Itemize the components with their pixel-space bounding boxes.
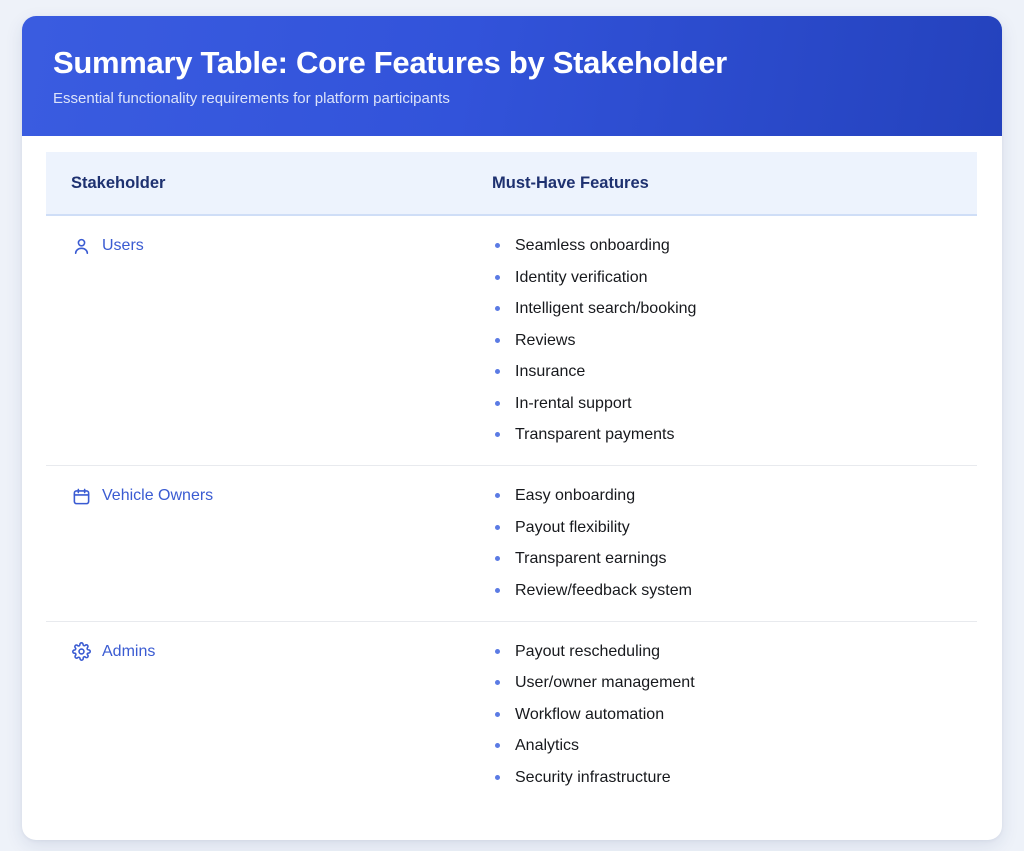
column-header-stakeholder: Stakeholder — [46, 152, 467, 215]
table-header-row: Stakeholder Must-Have Features — [46, 152, 977, 215]
summary-table-card: Summary Table: Core Features by Stakehol… — [22, 16, 1002, 840]
bullet-icon — [495, 743, 500, 748]
gear-icon — [71, 642, 91, 662]
stakeholder-label: Vehicle Owners — [102, 486, 213, 506]
list-item: Workflow automation — [492, 705, 977, 725]
bullet-icon — [495, 649, 500, 654]
table-header: Stakeholder Must-Have Features — [46, 152, 977, 215]
card-header: Summary Table: Core Features by Stakehol… — [22, 16, 1002, 136]
stakeholder-label: Users — [102, 236, 144, 256]
feature-list: Seamless onboarding Identity verificatio… — [492, 236, 977, 445]
bullet-icon — [495, 556, 500, 561]
features-cell-admins: Payout rescheduling User/owner managemen… — [467, 621, 977, 808]
page-subtitle: Essential functionality requirements for… — [53, 89, 972, 109]
bullet-icon — [495, 775, 500, 780]
user-icon — [71, 236, 91, 256]
bullet-icon — [495, 306, 500, 311]
feature-text: Transparent payments — [515, 426, 674, 443]
list-item: Easy onboarding — [492, 486, 977, 506]
stakeholder-cell-users: Users — [46, 215, 467, 466]
bullet-icon — [495, 243, 500, 248]
feature-text: Analytics — [515, 737, 579, 754]
list-item: Intelligent search/booking — [492, 299, 977, 319]
feature-text: Intelligent search/booking — [515, 300, 696, 317]
feature-text: Insurance — [515, 363, 585, 380]
list-item: Insurance — [492, 362, 977, 382]
feature-text: Easy onboarding — [515, 487, 635, 504]
table-container: Stakeholder Must-Have Features — [22, 136, 1002, 808]
features-cell-users: Seamless onboarding Identity verificatio… — [467, 215, 977, 466]
list-item: Reviews — [492, 331, 977, 351]
stakeholder-label: Admins — [102, 642, 155, 662]
bullet-icon — [495, 369, 500, 374]
feature-text: Seamless onboarding — [515, 237, 670, 254]
feature-text: Payout rescheduling — [515, 643, 660, 660]
features-cell-vehicle-owners: Easy onboarding Payout flexibility Trans… — [467, 466, 977, 622]
table-row: Users Seamless onboarding Identity verif… — [46, 215, 977, 466]
feature-text: Security infrastructure — [515, 769, 671, 786]
list-item: Security infrastructure — [492, 768, 977, 788]
feature-text: Workflow automation — [515, 706, 664, 723]
stakeholder-features-table: Stakeholder Must-Have Features — [46, 152, 977, 808]
list-item: Payout rescheduling — [492, 642, 977, 662]
feature-list: Easy onboarding Payout flexibility Trans… — [492, 486, 977, 601]
page-title: Summary Table: Core Features by Stakehol… — [53, 44, 972, 82]
list-item: Payout flexibility — [492, 518, 977, 538]
bullet-icon — [495, 712, 500, 717]
list-item: Transparent payments — [492, 425, 977, 445]
list-item: User/owner management — [492, 673, 977, 693]
list-item: In-rental support — [492, 394, 977, 414]
feature-text: User/owner management — [515, 674, 695, 691]
feature-text: Identity verification — [515, 269, 648, 286]
bullet-icon — [495, 680, 500, 685]
stakeholder-cell-admins: Admins — [46, 621, 467, 808]
table-row: Vehicle Owners Easy onboarding Payout fl… — [46, 466, 977, 622]
feature-text: In-rental support — [515, 395, 632, 412]
feature-list: Payout rescheduling User/owner managemen… — [492, 642, 977, 788]
list-item: Identity verification — [492, 268, 977, 288]
bullet-icon — [495, 432, 500, 437]
bullet-icon — [495, 275, 500, 280]
bullet-icon — [495, 493, 500, 498]
bullet-icon — [495, 401, 500, 406]
column-header-features: Must-Have Features — [467, 152, 977, 215]
feature-text: Reviews — [515, 332, 575, 349]
list-item: Seamless onboarding — [492, 236, 977, 256]
table-body: Users Seamless onboarding Identity verif… — [46, 215, 977, 808]
list-item: Analytics — [492, 736, 977, 756]
table-row: Admins Payout rescheduling User/owner ma… — [46, 621, 977, 808]
list-item: Review/feedback system — [492, 581, 977, 601]
calendar-icon — [71, 486, 91, 506]
feature-text: Payout flexibility — [515, 519, 630, 536]
stakeholder-cell-vehicle-owners: Vehicle Owners — [46, 466, 467, 622]
feature-text: Review/feedback system — [515, 582, 692, 599]
list-item: Transparent earnings — [492, 549, 977, 569]
bullet-icon — [495, 338, 500, 343]
feature-text: Transparent earnings — [515, 550, 667, 567]
bullet-icon — [495, 588, 500, 593]
bullet-icon — [495, 525, 500, 530]
